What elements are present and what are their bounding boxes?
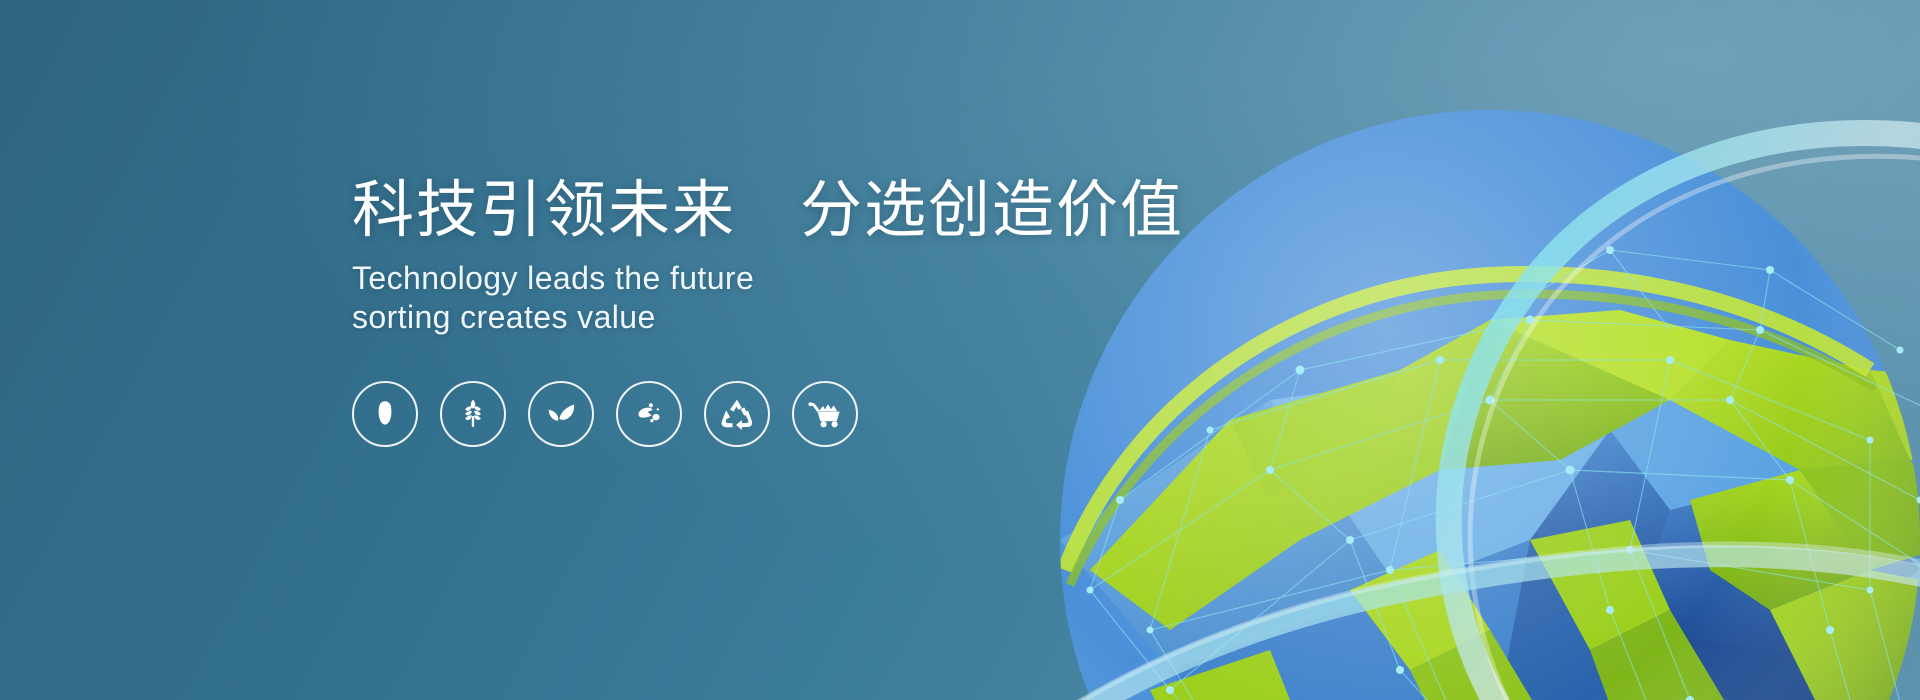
wheat-icon [456, 397, 490, 431]
hero-banner: 科技引领未来 分选创造价值 Technology leads the futur… [0, 0, 1920, 700]
ribbon-sweep [970, 545, 1920, 700]
ribbon-arc [1449, 133, 1920, 700]
industry-icon-recycle[interactable] [704, 381, 770, 447]
rice-grain-icon [368, 397, 402, 431]
banner-content: 科技引领未来 分选创造价值 Technology leads the futur… [352, 178, 1252, 447]
page-title: 科技引领未来 分选创造价值 [352, 178, 1252, 243]
mining-cart-icon [807, 397, 843, 431]
industry-icon-wheat[interactable] [440, 381, 506, 447]
industry-icon-mining-cart[interactable] [792, 381, 858, 447]
banner-subtitle: Technology leads the future sorting crea… [352, 259, 1252, 337]
nuts-icon [632, 397, 666, 431]
subtitle-line-2: sorting creates value [352, 298, 1252, 337]
tea-leaf-icon [543, 396, 579, 432]
industry-icon-row [352, 381, 1252, 447]
recycle-icon [720, 397, 754, 431]
industry-icon-tea-leaf[interactable] [528, 381, 594, 447]
industry-icon-nuts[interactable] [616, 381, 682, 447]
subtitle-line-1: Technology leads the future [352, 260, 754, 296]
industry-icon-rice-grain[interactable] [352, 381, 418, 447]
